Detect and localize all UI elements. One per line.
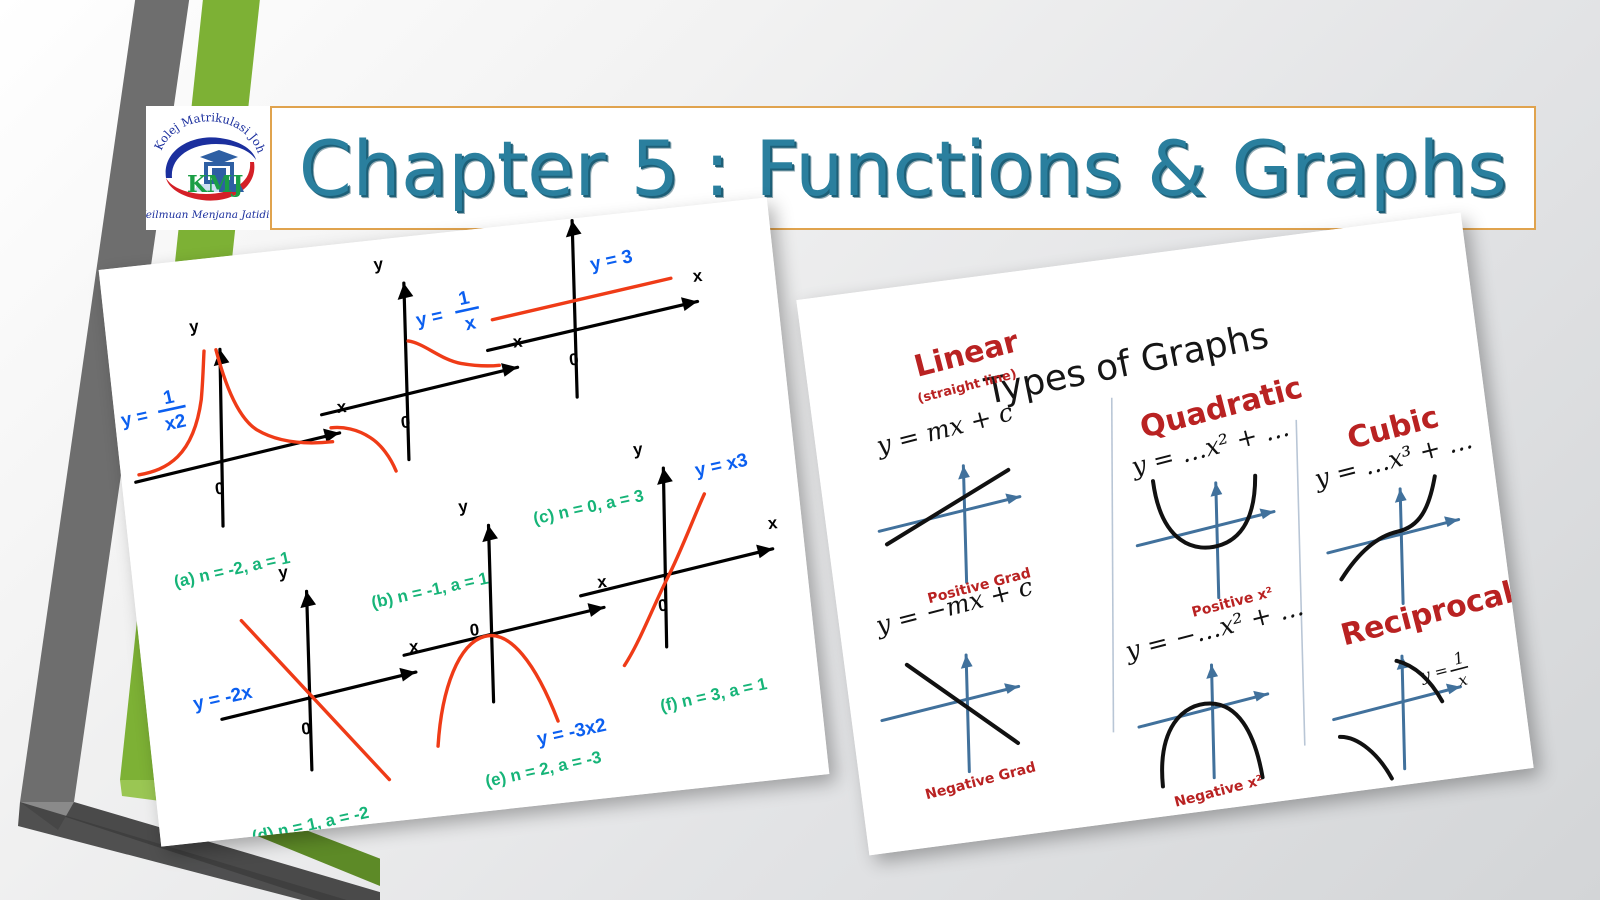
slide-canvas: Kolej Matrikulasi Johor KMJ Keilmuan Men… xyxy=(0,0,1600,900)
slide-title-bar: Chapter 5 : Functions & Graphs xyxy=(270,106,1536,230)
page-title: Chapter 5 : Functions & Graphs xyxy=(299,124,1507,213)
panel-f-origin: 0 xyxy=(657,596,668,616)
types-of-graphs-figure: Types of Graphs Linear (straight line) y… xyxy=(796,213,1533,856)
logo-motto: Keilmuan Menjana Jatidiri xyxy=(146,209,270,221)
kmj-logo: Kolej Matrikulasi Johor KMJ Keilmuan Men… xyxy=(146,106,270,230)
types-of-graphs-card: Types of Graphs Linear (straight line) y… xyxy=(796,213,1533,856)
power-functions-card: y x 0 y = 1 x2 (a) n = -2, a = 1 xyxy=(99,197,830,846)
panel-c-origin: 0 xyxy=(568,350,579,370)
panel-a-frac-den: x2 xyxy=(163,410,188,435)
panel-b-origin: 0 xyxy=(400,412,411,432)
power-functions-figure: y x 0 y = 1 x2 (a) n = -2, a = 1 xyxy=(99,197,830,846)
panel-a-origin: 0 xyxy=(214,479,225,499)
panel-e-origin: 0 xyxy=(469,620,480,640)
panel-d-origin: 0 xyxy=(300,719,311,739)
logo-monogram: KMJ xyxy=(187,171,243,198)
